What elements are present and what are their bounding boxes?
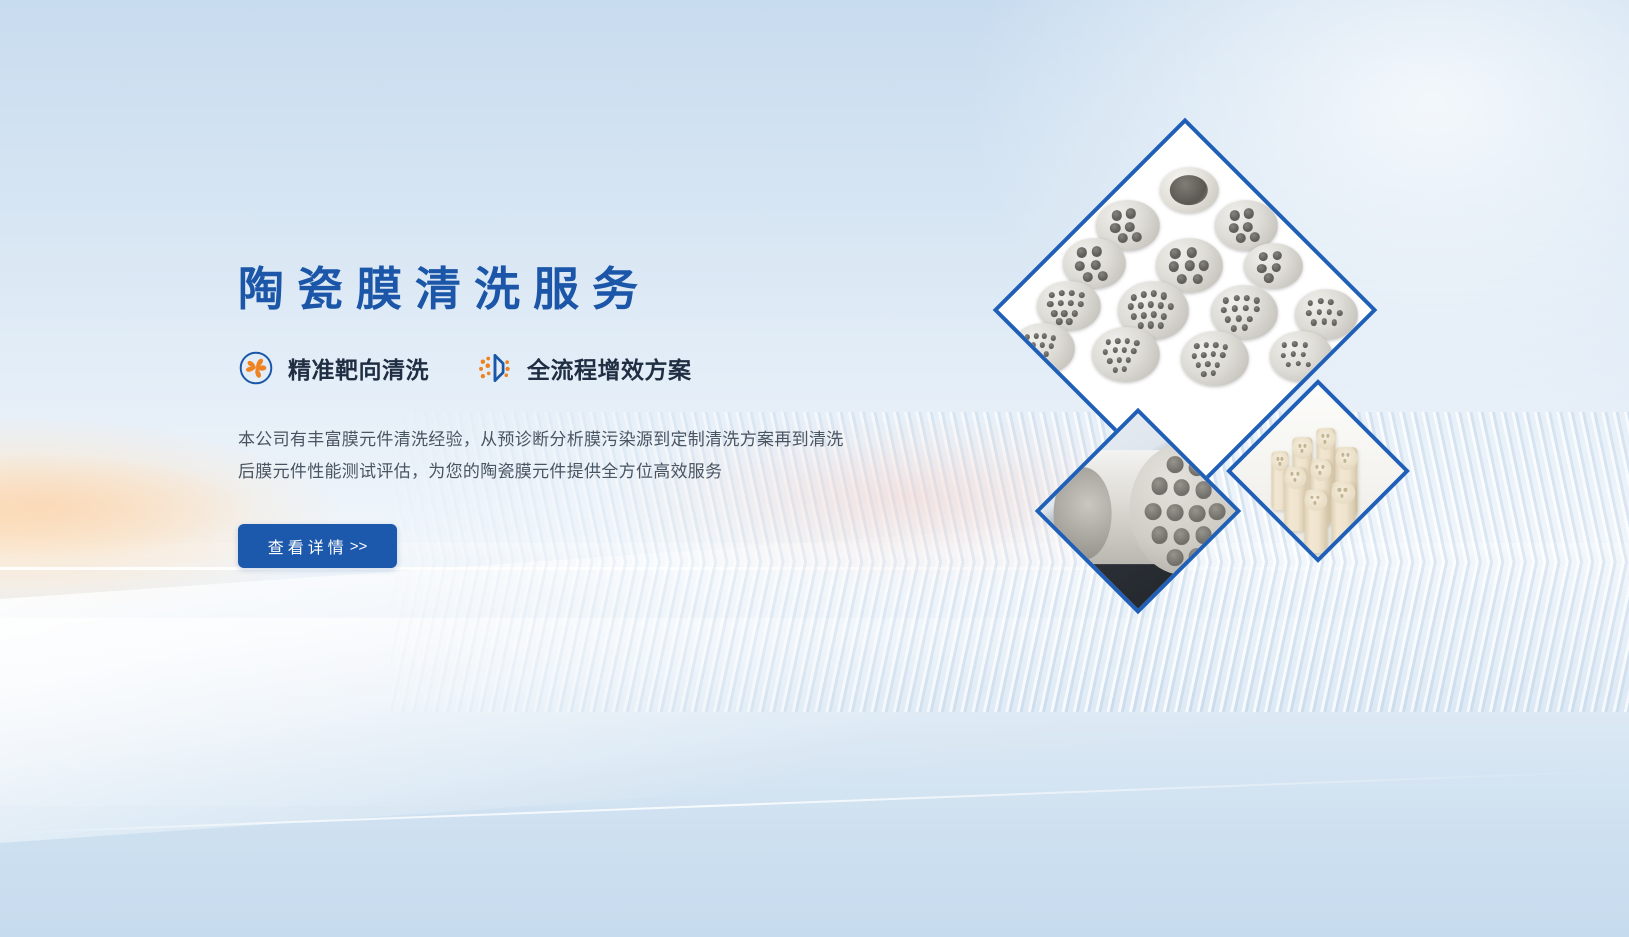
view-details-button[interactable]: 查看详情 >> [238,524,397,568]
hero-description: 本公司有丰富膜元件清洗经验，从预诊断分析膜污染源到定制清洗方案再到清洗 后膜元件… [238,424,898,488]
description-line: 后膜元件性能测试评估，为您的陶瓷膜元件提供全方位高效服务 [238,456,898,488]
pinwheel-icon [238,350,274,386]
filter-flow-icon [477,350,513,386]
hero-banner: 陶瓷膜清洗服务 精准靶向清洗 [0,0,1629,937]
feature-label: 全流程增效方案 [527,351,692,385]
chevron-right-icon: >> [350,538,368,555]
description-line: 本公司有丰富膜元件清洗经验，从预诊断分析膜污染源到定制清洗方案再到清洗 [238,424,898,456]
product-image-gallery [1013,150,1453,670]
hero-copy: 陶瓷膜清洗服务 精准靶向清洗 [238,262,938,568]
tube-cut-edge [1054,467,1111,560]
feature-label: 精准靶向清洗 [288,351,429,385]
feature-item-targeted-cleaning: 精准靶向清洗 [238,350,429,386]
feature-list: 精准靶向清洗 [238,350,938,386]
page-title: 陶瓷膜清洗服务 [238,262,938,316]
view-details-label: 查看详情 [268,534,348,558]
feature-item-full-process: 全流程增效方案 [477,350,692,386]
